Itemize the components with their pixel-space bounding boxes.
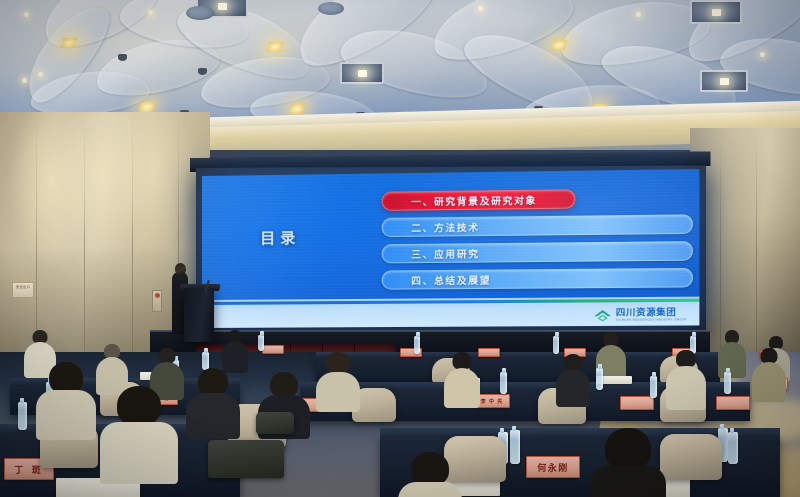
attendee-body (398, 482, 462, 497)
attendee (752, 348, 786, 400)
water-bottle (500, 372, 507, 394)
wall-seam (84, 112, 85, 372)
attendee (666, 350, 706, 406)
attendee-head (198, 368, 228, 396)
water-bottle (258, 335, 264, 351)
wall-seam (132, 112, 133, 372)
shoulder-bag (208, 440, 284, 478)
attendee (316, 352, 360, 400)
attendee-body (316, 372, 360, 412)
ceiling-vent (318, 2, 344, 15)
water-bottle (650, 376, 657, 398)
agenda-item-1-label: 研究背景及研究对象 (434, 192, 537, 208)
ceiling-downlight (139, 102, 155, 112)
logo-name-cn: 四川资源集团 (616, 308, 687, 318)
ceiling-spotlight (24, 12, 29, 17)
exit-sign: 安全出口 (12, 282, 34, 298)
attendee-head (411, 452, 449, 486)
shoulder-bag (256, 412, 294, 434)
podium (184, 288, 214, 342)
attendee-front-center (590, 428, 666, 497)
attendee-body (100, 422, 178, 484)
ceiling-downlight (289, 104, 305, 114)
namecard-front-center: 何永刚 (526, 456, 580, 478)
attendee-front-left (100, 386, 178, 466)
agenda-item-1[interactable]: 一、 研究背景及研究对象 (382, 189, 576, 211)
agenda-item-2[interactable]: 二、 方法技术 (382, 214, 693, 237)
wall-control-plate[interactable] (152, 290, 162, 312)
water-bottle (510, 430, 520, 464)
namecard (716, 396, 750, 410)
ceiling-spotlight (636, 12, 641, 17)
conference-hall-scene: 安全出口 目录 一、 研究背景及研究对象 二、 方法技术 三、 应用研究 四、 … (0, 0, 800, 497)
slide-title: 目录 (260, 227, 300, 249)
attendee-head (326, 352, 350, 374)
led-presentation-screen[interactable]: 目录 一、 研究背景及研究对象 二、 方法技术 三、 应用研究 四、 总结及展望 (202, 169, 699, 328)
ceiling-downlight (61, 38, 77, 48)
agenda-item-4-label: 总结及展望 (434, 272, 491, 287)
attendee (556, 354, 590, 404)
attendee-body (186, 393, 240, 439)
ceiling-speaker (198, 68, 207, 75)
footer-accent-rule (202, 299, 699, 305)
ceiling-spotlight (148, 10, 153, 15)
water-bottle (553, 336, 559, 354)
agenda-item-2-label: 方法技术 (434, 219, 480, 234)
ceiling-vent (186, 6, 214, 20)
water-bottle (596, 368, 603, 390)
mountain-logo-icon (593, 308, 612, 322)
water-bottle (18, 402, 27, 430)
chair (660, 434, 722, 480)
ceiling-speaker (118, 54, 127, 61)
namecard (620, 396, 654, 410)
agenda-item-1-index: 一、 (411, 194, 434, 208)
namecard (262, 345, 284, 354)
ceiling-spotlight (38, 72, 43, 77)
attendee-left (36, 362, 96, 422)
water-bottle (414, 336, 420, 354)
ceiling-downlight (551, 40, 567, 50)
wall-seam (756, 128, 757, 378)
agenda-item-4-index: 四、 (411, 273, 434, 287)
indicator-dot-icon (155, 293, 160, 298)
ceiling-spotlight (478, 6, 483, 11)
attendee (222, 330, 248, 372)
attendee-body (752, 362, 786, 402)
water-bottle (728, 432, 738, 464)
attendee-head (117, 386, 161, 426)
attendee (96, 344, 128, 392)
attendee-body (36, 390, 96, 440)
attendee-body (444, 368, 480, 408)
attendee-front-right (398, 452, 462, 497)
attendee-body (556, 369, 590, 407)
attendee-body (718, 342, 746, 378)
presenter-head (175, 263, 186, 275)
agenda-item-3[interactable]: 三、 应用研究 (382, 241, 693, 263)
attendee (186, 368, 240, 424)
agenda-item-3-label: 应用研究 (434, 246, 480, 261)
logo-name-en: SICHUAN RESOURCES INDUSTRY GROUP (616, 319, 687, 322)
ceiling-spotlight (22, 78, 27, 83)
attendee-body (590, 466, 666, 497)
water-bottle (724, 372, 731, 394)
attendee-head (605, 428, 651, 470)
ceiling-light-box (690, 0, 742, 24)
namecard (478, 348, 500, 357)
ceiling-spotlight (760, 52, 765, 57)
attendee (718, 330, 746, 376)
ceiling-light-box (700, 70, 748, 92)
agenda-item-2-index: 二、 (411, 220, 434, 234)
company-logo: 四川资源集团 SICHUAN RESOURCES INDUSTRY GROUP (593, 308, 687, 323)
agenda-item-4[interactable]: 四、 总结及展望 (382, 268, 693, 290)
ceiling-downlight (267, 42, 283, 52)
agenda-item-3-index: 三、 (411, 246, 434, 260)
attendee-body (666, 366, 706, 410)
agenda-list: 一、 研究背景及研究对象 二、 方法技术 三、 应用研究 四、 总结及展望 (382, 188, 693, 297)
ceiling-light-box (340, 62, 384, 84)
slide-footer: 四川资源集团 SICHUAN RESOURCES INDUSTRY GROUP (202, 297, 699, 328)
logo-text-block: 四川资源集团 SICHUAN RESOURCES INDUSTRY GROUP (616, 308, 687, 322)
attendee (444, 352, 480, 404)
